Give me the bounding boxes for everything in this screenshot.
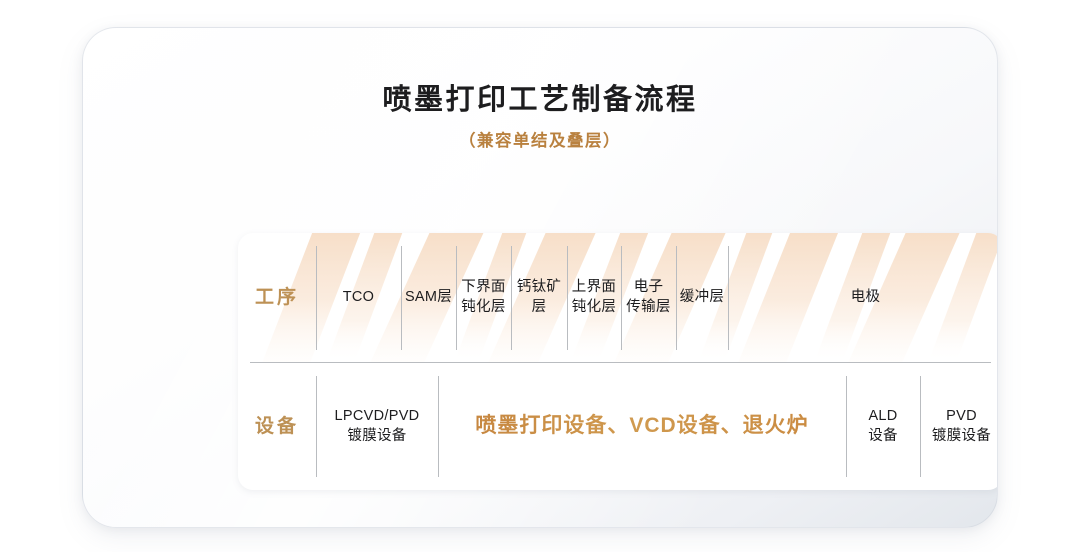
page-subtitle: （兼容单结及叠层） (83, 132, 997, 152)
process-cell-perovskite: 钙钛矿层 (511, 233, 567, 363)
process-cell-electron-transport: 电子传输层 (621, 233, 676, 363)
process-cell-perovskite-label: 钙钛矿层 (511, 278, 567, 317)
equipment-cell-lpcvd-pvd: LPCVD/PVD镀膜设备 (316, 363, 438, 490)
process-cell-sam-label: SAM层 (405, 288, 452, 308)
row-label-equipment: 设备 (238, 363, 316, 490)
equipment-cell-ald-label: ALD设备 (868, 407, 898, 446)
equipment-cell-pvd-label: PVD镀膜设备 (932, 407, 991, 446)
process-cell-lower-passivation: 下界面钝化层 (456, 233, 511, 363)
process-cell-upper-passivation: 上界面钝化层 (567, 233, 621, 363)
process-cell-electrode-label: 电极 (851, 288, 881, 308)
process-cell-electrode: 电极 (728, 233, 998, 363)
table-row-equipment: 设备 LPCVD/PVD镀膜设备 喷墨打印设备、VCD设备、退火炉 ALD设备 … (238, 363, 998, 490)
page-title: 喷墨打印工艺制备流程 (83, 84, 997, 117)
process-cell-lower-passivation-label: 下界面钝化层 (461, 278, 505, 317)
process-cell-buffer-label: 缓冲层 (680, 288, 724, 308)
process-table-panel: 工序 TCO SAM层 下界面钝化层 钙钛矿层 上界面钝化层 电子传输层 缓冲层… (238, 233, 998, 490)
table-row-process: 工序 TCO SAM层 下界面钝化层 钙钛矿层 上界面钝化层 电子传输层 缓冲层… (238, 233, 998, 363)
row-label-process: 工序 (238, 233, 316, 363)
content-card: 喷墨打印工艺制备流程 （兼容单结及叠层） (82, 27, 998, 528)
process-cell-sam: SAM层 (401, 233, 456, 363)
process-table: 工序 TCO SAM层 下界面钝化层 钙钛矿层 上界面钝化层 电子传输层 缓冲层… (238, 233, 998, 490)
process-cell-buffer: 缓冲层 (676, 233, 728, 363)
title-block: 喷墨打印工艺制备流程 （兼容单结及叠层） (83, 84, 997, 152)
equipment-cell-pvd: PVD镀膜设备 (920, 363, 998, 490)
equipment-cell-ald: ALD设备 (846, 363, 920, 490)
equipment-cell-lpcvd-pvd-label: LPCVD/PVD镀膜设备 (335, 407, 420, 446)
screenshot-root: 喷墨打印工艺制备流程 （兼容单结及叠层） (0, 0, 1080, 552)
process-cell-upper-passivation-label: 上界面钝化层 (572, 278, 616, 317)
equipment-cell-inkjet-merged-label: 喷墨打印设备、VCD设备、退火炉 (475, 412, 808, 440)
equipment-cell-inkjet-merged: 喷墨打印设备、VCD设备、退火炉 (438, 363, 846, 490)
process-cell-electron-transport-label: 电子传输层 (626, 278, 670, 317)
process-cell-tco: TCO (316, 233, 401, 363)
